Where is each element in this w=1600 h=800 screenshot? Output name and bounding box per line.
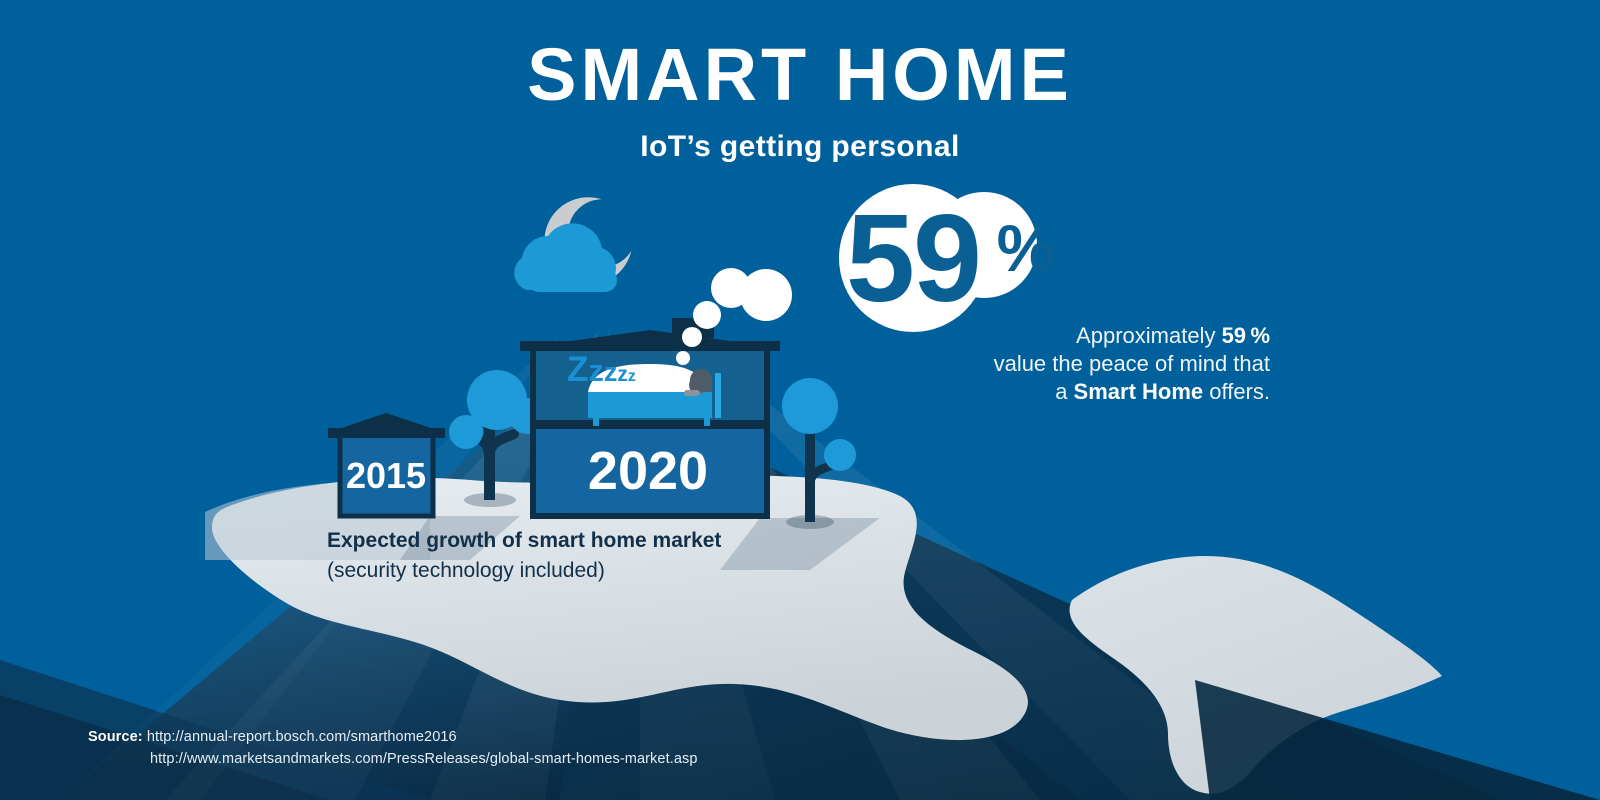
source-block: Source: http://annual-report.bosch.com/s… [88,726,698,771]
callout-line3-prefix: a [1055,379,1073,404]
callout-line3-suffix: offers. [1203,379,1270,404]
sleep-zzz-label: Zzzzz [567,352,636,387]
source-url-1[interactable]: http://annual-report.bosch.com/smarthome… [147,729,457,745]
page-title: SMART HOME [0,0,1600,112]
page-subtitle: IoT’s getting personal [0,112,1600,164]
header-block: SMART HOME IoT’s getting personal [0,0,1600,164]
callout-line1-prefix: Approximately [1076,323,1222,348]
source-url-2[interactable]: http://www.marketsandmarkets.com/PressRe… [88,748,698,770]
house-2015-year-label: 2015 [336,455,436,497]
callout-line2: value the peace of mind that [994,351,1270,376]
callout-line1-bold: 59 % [1222,323,1270,348]
zzz-char-5: z [628,368,636,385]
zzz-char-4: z [617,363,628,386]
infographic-canvas: SMART HOME IoT’s getting personal 59 % A… [0,0,1600,800]
callout-line3-bold: Smart Home [1074,379,1204,404]
zzz-char-3: z [604,357,618,387]
chart-caption: Expected growth of smart home market (se… [327,526,797,586]
caption-normal: (security technology included) [327,559,605,582]
source-label: Source: [88,729,143,745]
stat-percent-symbol: % [971,193,1081,303]
zzz-char-2: z [588,353,604,388]
zzz-char-1: Z [567,350,588,389]
house-2020-year-label: 2020 [540,440,756,502]
caption-bold: Expected growth of smart home market [327,529,721,552]
callout-text: Approximately 59 % value the peace of mi… [850,322,1270,406]
